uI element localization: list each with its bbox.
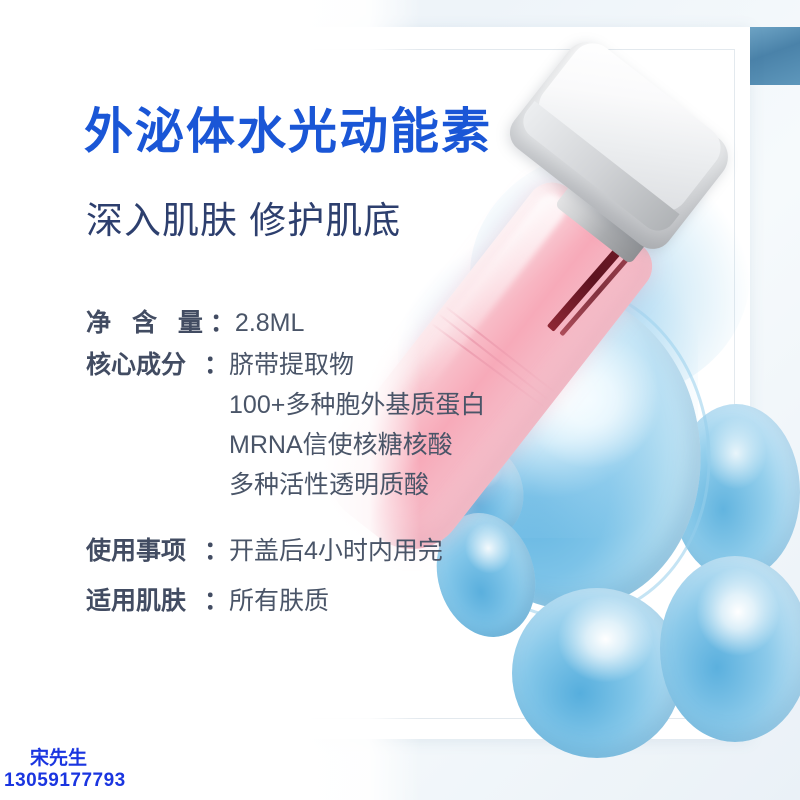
ingredient-line: 多种活性透明质酸 xyxy=(229,465,485,505)
spec-label-net-content: 净 含 量 xyxy=(86,303,210,343)
spec-colon: ： xyxy=(204,345,229,385)
spec-colon: ： xyxy=(204,581,229,621)
spec-list: 净 含 量 ： 2.8ML 核心成分 ： 脐带提取物 100+多种胞外基质蛋白 … xyxy=(86,303,476,623)
spec-colon: ： xyxy=(210,303,235,343)
spec-value-core-ingredients: 脐带提取物 100+多种胞外基质蛋白 MRNA信使核糖核酸 多种活性透明质酸 xyxy=(229,345,485,505)
spec-row-skin-type: 适用肌肤 ： 所有肤质 xyxy=(86,581,476,621)
page-title: 外泌体水光动能素 xyxy=(84,92,492,163)
spec-label-core-ingredients: 核心成分 xyxy=(86,345,204,385)
spec-row-core-ingredients: 核心成分 ： 脐带提取物 100+多种胞外基质蛋白 MRNA信使核糖核酸 多种活… xyxy=(86,345,476,505)
spec-label-skin-type: 适用肌肤 xyxy=(86,581,204,621)
ingredient-line: MRNA信使核糖核酸 xyxy=(229,425,485,465)
ingredient-line: 100+多种胞外基质蛋白 xyxy=(229,385,485,425)
spec-value-skin-type: 所有肤质 xyxy=(229,581,476,621)
page-subtitle: 深入肌肤 修护肌底 xyxy=(86,190,401,244)
spec-label-usage-note: 使用事项 xyxy=(86,531,204,571)
spec-row-usage-note: 使用事项 ： 开盖后4小时内用完 xyxy=(86,531,476,571)
spec-value-net-content: 2.8ML xyxy=(235,303,476,343)
spec-colon: ： xyxy=(204,531,229,571)
product-detail-page: 外泌体水光动能素 深入肌肤 修护肌底 净 含 量 ： 2.8ML 核心成分 ： … xyxy=(0,0,800,800)
watermark-name: 宋先生 xyxy=(30,748,126,770)
card-text-content: 外泌体水光动能素 深入肌肤 修护肌底 净 含 量 ： 2.8ML 核心成分 ： … xyxy=(0,0,800,800)
watermark-phone: 13059177793 xyxy=(4,770,126,792)
spec-row-net-content: 净 含 量 ： 2.8ML xyxy=(86,303,476,343)
ingredient-line: 脐带提取物 xyxy=(229,345,485,385)
watermark: 宋先生 13059177793 xyxy=(4,748,126,792)
spec-value-usage-note: 开盖后4小时内用完 xyxy=(229,531,476,571)
